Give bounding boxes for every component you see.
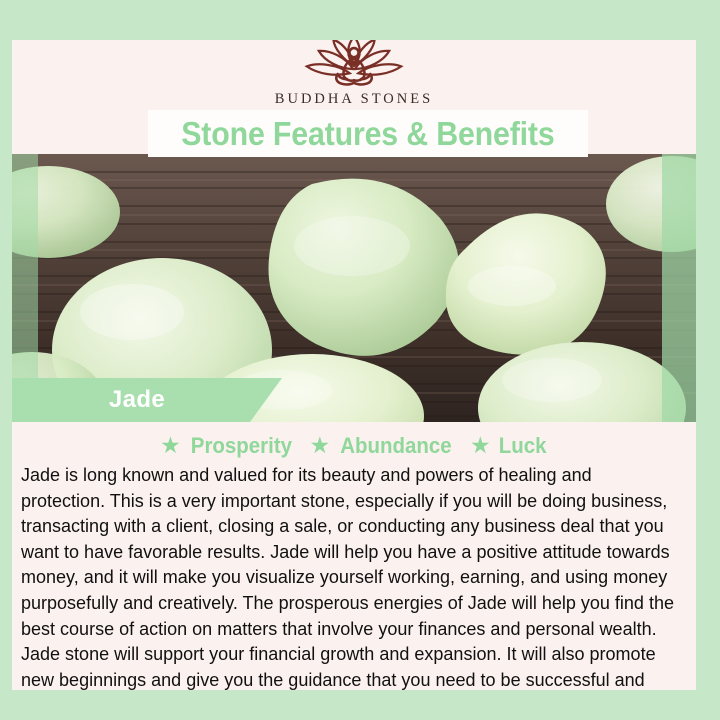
star-icon: ★ — [470, 434, 491, 457]
benefit-label: Luck — [498, 433, 546, 459]
star-icon: ★ — [310, 434, 331, 457]
description-text: Jade is long known and valued for its be… — [21, 462, 677, 690]
brand-name: BUDDHA STONES — [275, 91, 433, 108]
benefit-item: ★ Prosperity — [160, 433, 295, 459]
lotus-meditation-icon — [279, 40, 429, 93]
description-block: Jade is long known and valued for its be… — [21, 462, 677, 690]
stone-name-label: Jade — [12, 378, 262, 422]
star-icon: ★ — [160, 434, 181, 457]
card-inner-panel: BUDDHA STONES — [12, 40, 696, 690]
benefit-label: Abundance — [340, 433, 451, 459]
benefit-item: ★ Luck — [470, 433, 548, 459]
benefit-item: ★ Abundance — [310, 433, 456, 459]
stone-info-card: BUDDHA STONES — [0, 0, 720, 720]
page-title: Stone Features & Benefits — [181, 115, 554, 153]
benefit-label: Prosperity — [190, 433, 291, 459]
brand-logo-block: BUDDHA STONES — [12, 40, 696, 108]
benefits-row: ★ Prosperity ★ Abundance ★ Luck — [12, 430, 696, 462]
section-title-banner: Stone Features & Benefits — [148, 110, 588, 157]
photo-right-tint — [662, 154, 696, 422]
